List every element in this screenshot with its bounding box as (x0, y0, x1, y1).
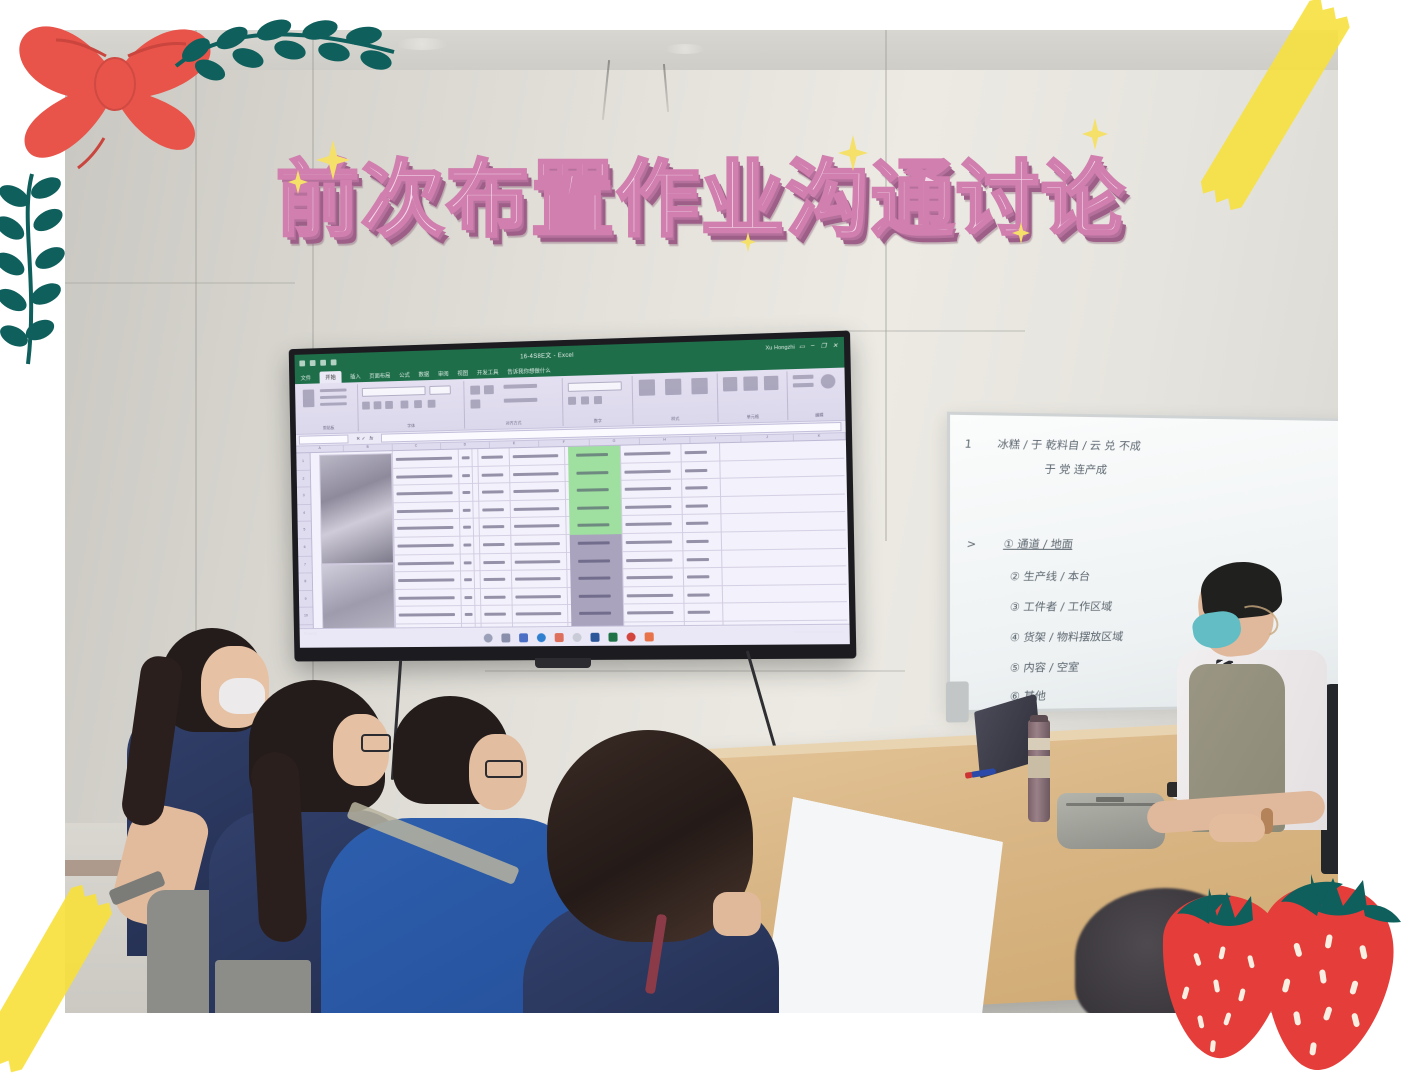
column-header[interactable]: E (490, 441, 540, 448)
edge-icon[interactable] (537, 633, 546, 642)
ceiling-light (395, 38, 449, 50)
attendee-woman-bob (523, 716, 783, 1013)
cell-text[interactable] (687, 558, 709, 561)
row-header[interactable]: 3 (297, 488, 311, 505)
column-header[interactable]: C (392, 443, 441, 450)
cell-text[interactable] (513, 489, 559, 493)
cut-icon[interactable] (320, 388, 347, 392)
cell-text[interactable] (481, 455, 503, 458)
cell-text[interactable] (686, 504, 708, 507)
task-view-icon[interactable] (501, 633, 510, 642)
ribbon-group-clipboard[interactable]: 剪贴板 (299, 384, 359, 433)
cell-text[interactable] (578, 541, 610, 545)
cell-text[interactable] (626, 558, 672, 562)
eyeglasses (485, 760, 523, 778)
cell-text[interactable] (686, 522, 708, 525)
fx-icon[interactable]: fx (369, 435, 373, 441)
data-table[interactable] (392, 440, 848, 627)
cell-text[interactable] (685, 468, 707, 472)
word-icon[interactable] (590, 632, 599, 641)
cell-text[interactable] (482, 508, 504, 511)
row-header[interactable]: 5 (298, 522, 312, 539)
cell-text[interactable] (464, 596, 472, 599)
align-left-icon[interactable] (470, 386, 480, 395)
embedded-image[interactable] (321, 563, 396, 628)
ribbon-group-label: 剪贴板 (300, 424, 358, 431)
excel-icon[interactable] (608, 632, 617, 641)
close-icon[interactable]: ✕ (832, 342, 837, 349)
tab-page-layout[interactable]: 页面布局 (369, 371, 390, 380)
window-buttons[interactable]: ▭ – ❐ ✕ (799, 342, 844, 351)
cell-text[interactable] (626, 540, 672, 544)
tab-insert[interactable]: 插入 (350, 372, 361, 380)
align-center-icon[interactable] (484, 385, 494, 394)
row-header[interactable]: 6 (298, 539, 312, 556)
wall-panel-line (65, 282, 295, 284)
row-header[interactable]: 1 (296, 453, 310, 470)
column-header[interactable]: G (589, 438, 639, 445)
whiteboard-line: ② 生产线 / 本台 (1009, 568, 1091, 584)
sparkle-icon (838, 135, 868, 171)
cell-text[interactable] (514, 507, 560, 511)
cell-text[interactable] (513, 454, 559, 458)
cell-text[interactable] (398, 579, 454, 583)
cell-text[interactable] (688, 611, 710, 614)
formula-controls[interactable]: ✕ ✓ fx (348, 435, 381, 442)
column-header[interactable]: I (691, 436, 742, 443)
redo-icon[interactable] (320, 359, 326, 365)
bold-icon[interactable] (362, 402, 370, 410)
cell-text[interactable] (626, 576, 672, 580)
cell-text[interactable] (578, 577, 610, 580)
wps-icon[interactable] (555, 633, 564, 642)
cell-text[interactable] (464, 561, 472, 564)
copy-icon[interactable] (320, 395, 347, 399)
cell-text[interactable] (484, 578, 506, 581)
find-select-icon[interactable] (821, 374, 836, 389)
cell-text[interactable] (577, 506, 609, 510)
border-icon[interactable] (401, 400, 409, 408)
cell-text[interactable] (398, 561, 454, 565)
tab-home[interactable]: 开始 (319, 370, 341, 382)
column-header[interactable]: D (441, 442, 490, 449)
wall-panel-line (845, 330, 1025, 332)
whiteboard-line: 于 党 连产成 (1044, 461, 1109, 478)
cell-text[interactable] (464, 578, 472, 581)
sparkle-icon (316, 140, 350, 180)
insert-cells-icon[interactable] (723, 377, 738, 392)
cell-text[interactable] (483, 543, 505, 546)
embedded-image[interactable] (319, 453, 394, 564)
cell-text[interactable] (627, 594, 673, 598)
cell-text[interactable] (687, 593, 709, 596)
cell-text[interactable] (624, 452, 670, 456)
display-stand (535, 658, 591, 668)
ribbon-group-alignment[interactable]: 对齐方式 (464, 378, 563, 429)
cell-text[interactable] (514, 524, 560, 528)
pdf-icon[interactable] (645, 632, 654, 641)
customize-icon[interactable] (331, 359, 337, 365)
cell-text[interactable] (463, 526, 471, 529)
wall-seam (885, 30, 887, 541)
whiteboard-line: 冰糕 / 于 乾料自 / 云 兑 不成 (997, 436, 1142, 454)
wrap-text-icon[interactable] (504, 384, 538, 389)
save-icon[interactable] (299, 360, 305, 366)
thermos-tumbler (1028, 720, 1050, 822)
cell-text[interactable] (462, 456, 470, 459)
font-color-icon[interactable] (428, 400, 436, 408)
office-chair (215, 960, 311, 1013)
tab-tell-me[interactable]: 告诉我你想做什么 (507, 366, 551, 375)
tab-developer[interactable]: 开发工具 (477, 368, 499, 377)
cell-text[interactable] (482, 473, 504, 476)
fill-color-icon[interactable] (414, 400, 422, 408)
undo-icon[interactable] (310, 360, 316, 366)
chrome-icon[interactable] (573, 632, 582, 641)
explorer-icon[interactable] (519, 633, 528, 642)
cell-text[interactable] (483, 560, 505, 563)
pouch-zipper (1066, 803, 1157, 806)
sort-filter-icon[interactable] (793, 383, 814, 388)
spreadsheet-grid[interactable]: A B C D E F G H I J K 123456789101112131… (296, 433, 849, 628)
pouch-tag (1096, 797, 1124, 802)
row-header[interactable]: 4 (297, 505, 311, 522)
cell-text[interactable] (462, 491, 470, 494)
cell-text[interactable] (625, 505, 671, 509)
display-screen[interactable]: 16-4S8E文 - Excel Xu Hongzhi ▭ – ❐ ✕ 文件 开… (294, 337, 849, 648)
format-painter-icon[interactable] (320, 402, 347, 406)
column-header[interactable]: B (344, 444, 392, 451)
cell-text[interactable] (579, 594, 611, 597)
sparkle-icon (288, 170, 308, 194)
presenter-hand (1209, 814, 1265, 842)
cell-text[interactable] (483, 525, 505, 528)
ribbon-group-label: 对齐方式 (465, 419, 563, 428)
cell-text[interactable] (484, 595, 506, 598)
attendee-ponytail (250, 751, 308, 943)
row-header[interactable]: 8 (299, 574, 313, 591)
cell-text[interactable] (396, 457, 452, 461)
sparkle-icon (1082, 118, 1108, 150)
wall-panel-line (485, 670, 905, 672)
ribbon-group-label: 样式 (633, 415, 717, 423)
cell-text[interactable] (396, 474, 452, 478)
ribbon-group-number[interactable]: 数字 (563, 376, 634, 426)
green-leaf-vine (170, 8, 400, 88)
cell-text[interactable] (484, 613, 506, 616)
cell-text[interactable] (398, 596, 454, 600)
row-header[interactable]: 2 (297, 470, 311, 487)
attendee-neck (713, 892, 761, 936)
cell-text[interactable] (463, 543, 471, 546)
cell-text[interactable] (463, 509, 471, 512)
cell-text[interactable] (397, 509, 453, 513)
cell-text[interactable] (625, 487, 671, 491)
conditional-formatting-icon[interactable] (639, 379, 655, 396)
cell-text[interactable] (399, 613, 455, 616)
format-cells-icon[interactable] (764, 376, 779, 391)
font-name-box[interactable] (362, 386, 426, 397)
percent-icon[interactable] (581, 396, 589, 404)
tab-formulas[interactable]: 公式 (399, 370, 410, 378)
delete-cells-icon[interactable] (743, 376, 758, 391)
cell-text[interactable] (578, 559, 610, 562)
column-header[interactable]: H (640, 437, 691, 444)
whiteboard-line: ① 通道 / 地面 (1003, 536, 1074, 552)
marker-tray (946, 681, 969, 722)
poster-canvas: 16-4S8E文 - Excel Xu Hongzhi ▭ – ❐ ✕ 文件 开… (0, 0, 1402, 1080)
autosum-icon[interactable] (793, 375, 814, 380)
align-bottom-icon[interactable] (470, 399, 480, 408)
cell-text[interactable] (465, 613, 473, 616)
underline-icon[interactable] (385, 401, 393, 409)
font-size-box[interactable] (429, 385, 451, 395)
column-header[interactable]: J (742, 434, 794, 441)
cell-text[interactable] (397, 544, 453, 548)
cell-text[interactable] (482, 490, 504, 493)
thermos-cap (1030, 715, 1048, 722)
cell-text[interactable] (462, 474, 470, 477)
sparkle-icon (740, 232, 756, 252)
cell-text[interactable] (515, 577, 561, 581)
minimize-icon[interactable]: – (811, 343, 815, 350)
cortana-icon[interactable] (484, 633, 493, 642)
cell-text[interactable] (515, 595, 561, 598)
ribbon-group-label: 编辑 (788, 411, 850, 419)
cell-text[interactable] (396, 491, 452, 495)
column-header[interactable]: F (539, 439, 589, 446)
ribbon-group-label: 数字 (563, 417, 632, 425)
whiteboard-line-marker: 1 (964, 437, 973, 450)
ribbon-options-icon[interactable]: ▭ (799, 343, 805, 350)
restore-icon[interactable]: ❐ (821, 343, 827, 350)
strawberry-pair (1135, 862, 1402, 1080)
cell-text[interactable] (625, 523, 671, 527)
row-header[interactable]: 7 (298, 556, 312, 573)
number-format-select[interactable] (568, 381, 622, 392)
user-name: Xu Hongzhi (765, 344, 799, 351)
column-header[interactable]: A (296, 445, 344, 452)
ribbon-group-font[interactable]: 字体 (358, 381, 465, 431)
cell-text[interactable] (685, 486, 707, 489)
recorder-icon[interactable] (626, 632, 635, 641)
whiteboard-line: ③ 工件者 / 工作区域 (1009, 598, 1113, 615)
page-title: 前次布置作业沟通讨论 (0, 132, 1402, 252)
cell-styles-icon[interactable] (691, 378, 708, 395)
format-as-table-icon[interactable] (665, 379, 682, 396)
thermos-band (1028, 738, 1050, 750)
quick-access-toolbar[interactable] (295, 359, 337, 366)
cell-text[interactable] (516, 612, 562, 615)
ribbon-group-styles[interactable]: 样式 (633, 373, 719, 424)
wall-display[interactable]: 16-4S8E文 - Excel Xu Hongzhi ▭ – ❐ ✕ 文件 开… (289, 330, 857, 661)
thermos-band (1028, 756, 1050, 778)
cell-text[interactable] (627, 611, 673, 614)
pen-nib (965, 772, 973, 779)
ribbon-group-editing[interactable]: 编辑 (787, 369, 849, 420)
ribbon-group-cells[interactable]: 单元格 (718, 371, 789, 422)
whiteboard-line: ⑤ 内容 / 空室 (1009, 659, 1080, 676)
cell-text[interactable] (397, 526, 453, 530)
ceiling-light (665, 44, 705, 54)
cell-text[interactable] (514, 542, 560, 546)
ribbon-group-label: 单元格 (718, 413, 787, 421)
comma-icon[interactable] (594, 396, 602, 404)
name-box[interactable] (299, 435, 349, 445)
currency-icon[interactable] (568, 397, 576, 405)
cell-text[interactable] (513, 472, 559, 476)
presenter (1153, 560, 1338, 860)
cell-text[interactable] (515, 560, 561, 564)
column-header[interactable]: K (793, 433, 845, 440)
italic-icon[interactable] (374, 401, 382, 409)
ribbon-group-label: 字体 (359, 422, 464, 431)
paste-icon[interactable] (303, 389, 315, 407)
tab-data[interactable]: 数据 (418, 370, 429, 378)
cell-text[interactable] (687, 575, 709, 578)
merge-cells-icon[interactable] (504, 398, 538, 403)
tab-file[interactable]: 文件 (301, 373, 312, 381)
cell-text[interactable] (624, 469, 670, 473)
sparkle-icon (1012, 222, 1030, 244)
tab-view[interactable]: 视图 (457, 369, 468, 377)
whiteboard-line-marker: > (966, 537, 977, 550)
whiteboard-line: ④ 货架 / 物料摆放区域 (1009, 628, 1124, 645)
tab-review[interactable]: 审阅 (438, 369, 449, 377)
cell-text[interactable] (685, 451, 707, 455)
cell-text[interactable] (686, 540, 708, 543)
